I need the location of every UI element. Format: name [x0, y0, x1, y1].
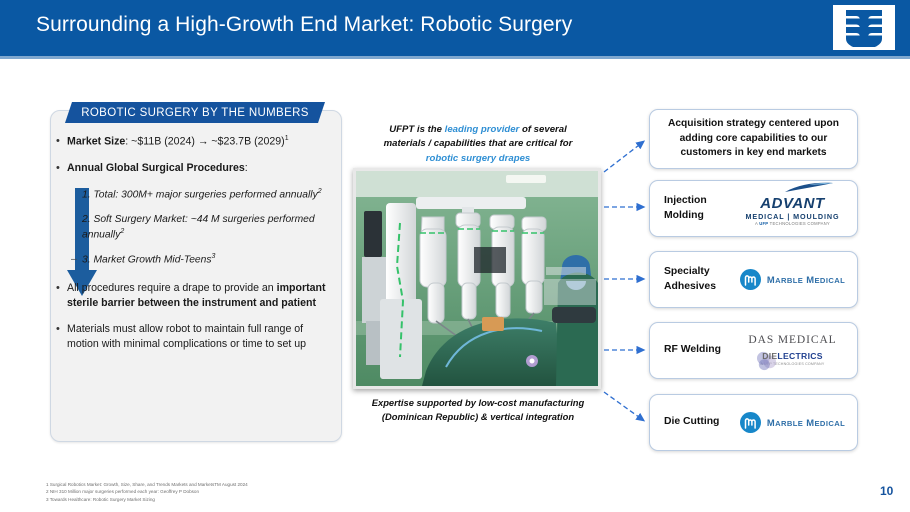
- bullet-value: :: [245, 162, 248, 174]
- footnote-2: 2 NIH 310 Million major surgeries perfor…: [46, 488, 466, 495]
- footnote-ref: 1: [285, 135, 289, 142]
- marble-wordmark: MARBLE MEDICAL: [767, 417, 845, 428]
- photo-caption-top: UFPT is the leading provider of several …: [352, 123, 604, 166]
- slide-root: Surrounding a High-Growth End Market: Ro…: [0, 0, 910, 512]
- marble-badge-icon: [740, 412, 761, 433]
- advant-subtitle: MEDICAL | MOULDING: [746, 213, 840, 220]
- advant-medical-molding-logo: ADVANT MEDICAL | MOULDING A UFP TECHNOLO…: [728, 191, 857, 226]
- marble-wordmark: MARBLE MEDICAL: [767, 274, 845, 285]
- capability-label: Die Cutting: [650, 415, 728, 429]
- capability-label: Injection Molding: [650, 194, 728, 222]
- ufp-technologies-logo: [833, 5, 895, 50]
- marble-medical-logo: MARBLE MEDICAL: [728, 412, 857, 433]
- caption-part: materials / capabilities that are critic…: [384, 138, 573, 149]
- bullet-marker: •: [56, 134, 67, 150]
- page-number: 10: [880, 484, 893, 498]
- bullet-annual-procedures: • Annual Global Surgical Procedures:: [56, 161, 336, 176]
- dielectrics-wordmark: DIELECTRICS: [748, 352, 836, 361]
- capability-label: RF Welding: [650, 343, 728, 357]
- footnote-ref: 2: [318, 188, 322, 195]
- sub-item-total-surgeries: 1. Total: 300M+ major surgeries performe…: [82, 187, 336, 203]
- robotic-surgery-operating-room-photo: [353, 168, 601, 389]
- advant-tagline: A UFP TECHNOLOGIES COMPANY: [746, 222, 840, 226]
- bullet-text: All procedures require a drape to provid…: [67, 282, 277, 294]
- footnote-1: 1 Surgical Robotics Market: Growth, Size…: [46, 481, 466, 488]
- left-panel-bullets: • Market Size: ~$11B (2024) → ~$23.7B (2…: [56, 134, 336, 363]
- caption-highlight: robotic surgery drapes: [426, 153, 531, 164]
- das-medical-dielectrics-logo: DAS MEDICAL DIELECTRICS A UFP TECHNOLOGI…: [728, 334, 857, 367]
- footnotes: 1 Surgical Robotics Market: Growth, Size…: [46, 481, 466, 503]
- acquisition-strategy-text: Acquisition strategy centered upon addin…: [650, 117, 857, 160]
- bullet-materials-range-of-motion: • Materials must allow robot to maintain…: [56, 322, 336, 352]
- caption-highlight: leading provider: [445, 124, 520, 135]
- left-panel-ribbon-title: ROBOTIC SURGERY BY THE NUMBERS: [65, 102, 325, 123]
- capability-card-specialty-adhesives[interactable]: Specialty Adhesives MARBLE MEDICAL: [649, 251, 858, 308]
- footnote-3: 3 Towards Healthcare: Robotic Surgery Ma…: [46, 496, 466, 503]
- marble-medical-logo: MARBLE MEDICAL: [728, 269, 857, 290]
- footnote-ref: 2: [120, 228, 124, 235]
- bullet-market-size: • Market Size: ~$11B (2024) → ~$23.7B (2…: [56, 134, 336, 150]
- das-medical-wordmark: DAS MEDICAL: [748, 334, 836, 347]
- page-title: Surrounding a High-Growth End Market: Ro…: [36, 13, 572, 37]
- bullet-value: : ~$11B (2024) → ~$23.7B (2029): [125, 136, 284, 148]
- caption-part: Expertise supported by low-cost manufact…: [372, 397, 585, 408]
- bullet-marker: •: [56, 281, 67, 311]
- bullet-label: Annual Global Surgical Procedures: [67, 162, 245, 174]
- bullet-marker: •: [56, 322, 67, 352]
- capability-card-rf-welding[interactable]: RF Welding DAS MEDICAL DIELECTRICS A UFP…: [649, 322, 858, 379]
- sub-item-text: 2. Soft Surgery Market: ~44 M surgeries …: [82, 214, 315, 241]
- advant-wordmark: ADVANT: [746, 196, 840, 211]
- sub-item-market-growth: 3. Market Growth Mid-Teens3: [82, 252, 336, 268]
- bullet-marker: •: [56, 161, 67, 176]
- sub-item-text: 1. Total: 300M+ major surgeries performe…: [82, 189, 318, 200]
- footnote-ref: 3: [212, 253, 216, 260]
- capability-card-die-cutting[interactable]: Die Cutting MARBLE MEDICAL: [649, 394, 858, 451]
- bullet-drape-requirement: • All procedures require a drape to prov…: [56, 281, 336, 311]
- caption-part: UFPT is the: [389, 124, 444, 135]
- sub-item-soft-surgery-market: 2. Soft Surgery Market: ~44 M surgeries …: [82, 212, 336, 243]
- capability-label: Specialty Adhesives: [650, 265, 728, 293]
- marble-badge-icon: [740, 269, 761, 290]
- bullet-text: Materials must allow robot to maintain f…: [67, 323, 306, 350]
- acquisition-strategy-note-card: Acquisition strategy centered upon addin…: [649, 109, 858, 169]
- caption-part: (Dominican Republic) & vertical integrat…: [382, 411, 574, 422]
- photo-caption-bottom: Expertise supported by low-cost manufact…: [352, 396, 604, 424]
- sub-item-text: 3. Market Growth Mid-Teens: [82, 255, 212, 266]
- capability-card-injection-molding[interactable]: Injection Molding ADVANT MEDICAL | MOULD…: [649, 180, 858, 237]
- bullet-label: Market Size: [67, 136, 125, 148]
- caption-part: of several: [519, 124, 566, 135]
- header-accent-rule: [0, 56, 910, 59]
